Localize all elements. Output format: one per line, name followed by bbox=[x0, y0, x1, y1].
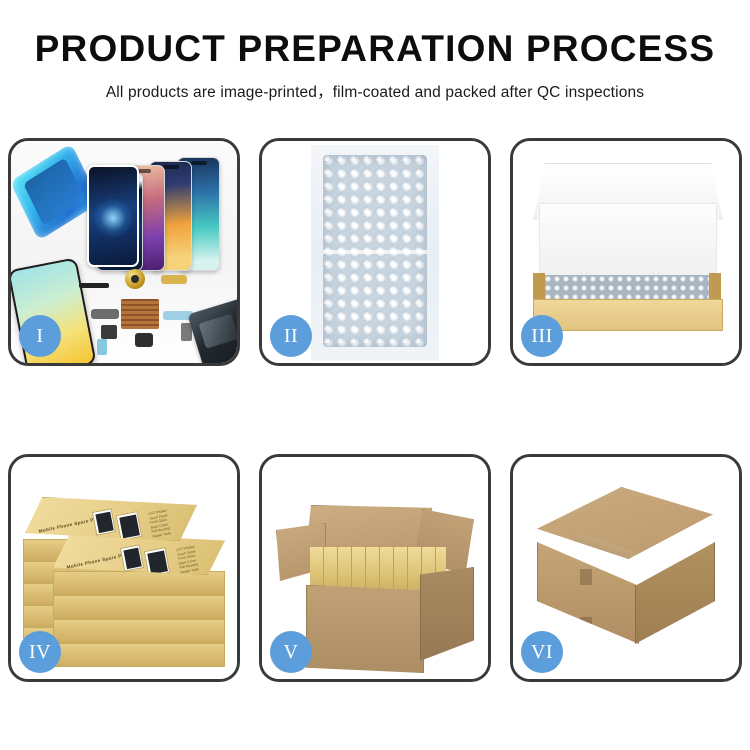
lcd-image bbox=[116, 511, 143, 541]
page-title: PRODUCT PREPARATION PROCESS bbox=[0, 30, 750, 69]
step-badge-1: I bbox=[19, 315, 61, 357]
lcd-image bbox=[120, 544, 144, 571]
receiver-part-icon bbox=[135, 333, 153, 347]
motherboard-part bbox=[187, 294, 237, 363]
step-badge-6: VI bbox=[521, 631, 563, 673]
flex-cable-gold-icon bbox=[161, 275, 187, 284]
camera-module-icon bbox=[97, 339, 107, 355]
notch-icon bbox=[191, 161, 207, 165]
carton-right-panel bbox=[420, 567, 474, 661]
foam-sheet bbox=[539, 203, 717, 279]
box-top-printed: Mobile Phone Spare Parts LCD Display Tou… bbox=[25, 497, 197, 541]
step-badge-2: II bbox=[270, 315, 312, 357]
steps-grid: I II III bbox=[8, 138, 742, 738]
box-checklist: LCD Display Touch Panel Front Glass Back… bbox=[176, 540, 221, 575]
copper-grid-part-icon bbox=[121, 299, 159, 329]
step-panel-6: VI bbox=[510, 454, 742, 682]
screen-glass-panel bbox=[87, 165, 139, 267]
spare-parts-cluster bbox=[77, 267, 237, 363]
box-layer bbox=[53, 571, 225, 595]
wrap-seam bbox=[323, 250, 427, 254]
carton-top-panel bbox=[537, 487, 713, 559]
chip-part-icon bbox=[101, 325, 117, 339]
box-layer bbox=[53, 619, 225, 643]
coil-part-icon bbox=[125, 269, 145, 289]
box-checklist: LCD Display Touch Panel Front Glass Back… bbox=[148, 504, 193, 539]
carton-handle-notch bbox=[580, 569, 592, 585]
step-badge-3: III bbox=[521, 315, 563, 357]
step-panel-5: V bbox=[259, 454, 491, 682]
step-panel-4: Mobile Phone Spare Parts LCD Display Tou… bbox=[8, 454, 240, 682]
box-front-panel bbox=[533, 299, 723, 331]
page-subtitle: All products are image-printed，film-coat… bbox=[0, 80, 750, 102]
speaker-bar-part-icon bbox=[79, 283, 109, 288]
product-preparation-infographic: PRODUCT PREPARATION PROCESS All products… bbox=[0, 0, 750, 750]
step-panel-1: I bbox=[8, 138, 240, 366]
lcd-image bbox=[92, 508, 116, 535]
flex-cable-grey-icon bbox=[91, 309, 119, 319]
carton-right-panel bbox=[635, 542, 715, 644]
carton-front-panel bbox=[306, 585, 424, 673]
box-layer bbox=[53, 643, 225, 667]
box-layer bbox=[53, 595, 225, 619]
step-panel-2: II bbox=[259, 138, 491, 366]
notch-icon bbox=[163, 165, 179, 169]
step-badge-4: IV bbox=[19, 631, 61, 673]
step-panel-3: III bbox=[510, 138, 742, 366]
bubble-wrapped-items bbox=[535, 275, 717, 301]
carton-handle-notch bbox=[580, 617, 592, 633]
header: PRODUCT PREPARATION PROCESS All products… bbox=[0, 0, 750, 102]
step-badge-5: V bbox=[270, 631, 312, 673]
